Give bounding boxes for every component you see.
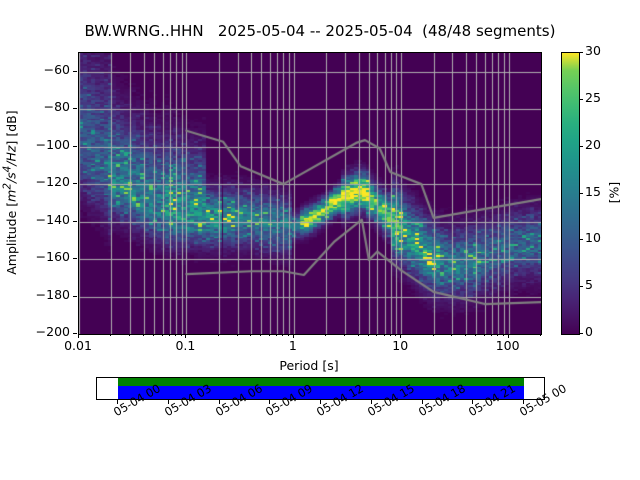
colorbar-tick-label: 10 <box>585 230 601 245</box>
colorbar-tick-mark <box>579 52 583 53</box>
y-axis-tick-label: −160 <box>8 249 70 264</box>
x-axis-minor-tick-mark <box>451 334 452 336</box>
x-axis-minor-tick-mark <box>358 334 359 336</box>
x-axis-minor-tick-mark <box>503 334 504 336</box>
colorbar-tick-mark <box>579 239 583 240</box>
colorbar-label: [%] <box>604 52 624 333</box>
x-axis-tick-label: 100 <box>478 338 538 353</box>
x-axis-minor-tick-mark <box>344 334 345 336</box>
colorbar-tick-label: 5 <box>585 277 593 292</box>
x-axis-label: Period [s] <box>78 358 540 373</box>
y-axis-tick-label: −60 <box>8 62 70 77</box>
x-axis-minor-tick-mark <box>143 334 144 336</box>
x-axis-minor-tick-mark <box>376 334 377 336</box>
x-axis-minor-tick-mark <box>162 334 163 336</box>
x-axis-tick-label: 0.01 <box>48 338 108 353</box>
x-axis-minor-tick-mark <box>237 334 238 336</box>
x-axis-minor-tick-mark <box>169 334 170 336</box>
y-axis-tick-label: −80 <box>8 99 70 114</box>
x-axis-minor-tick-mark <box>497 334 498 336</box>
y-axis-tick-label: −200 <box>8 324 70 339</box>
y-axis-tick-label: −100 <box>8 137 70 152</box>
x-axis-minor-tick-mark <box>491 334 492 336</box>
ppsd-plot-axes[interactable] <box>78 52 542 335</box>
y-axis-tick-mark <box>73 108 77 109</box>
colorbar-tick-label: 20 <box>585 137 601 152</box>
colorbar-tick-mark <box>579 99 583 100</box>
colorbar-tick-label: 30 <box>585 43 601 58</box>
y-axis-tick-mark <box>73 71 77 72</box>
x-axis-minor-tick-mark <box>368 334 369 336</box>
colorbar-tick-mark <box>579 333 583 334</box>
x-axis-minor-tick-mark <box>153 334 154 336</box>
y-axis-tick-mark <box>73 258 77 259</box>
colorbar-tick-mark <box>579 193 583 194</box>
x-axis-minor-tick-mark <box>325 334 326 336</box>
x-axis-minor-tick-mark <box>475 334 476 336</box>
colorbar-label-text: [%] <box>607 182 622 204</box>
x-axis-minor-tick-mark <box>175 334 176 336</box>
x-axis-tick-label: 10 <box>370 338 430 353</box>
colorbar <box>561 52 580 335</box>
y-axis-tick-label: −180 <box>8 287 70 302</box>
x-axis-tick-label: 1 <box>263 338 323 353</box>
x-axis-minor-tick-mark <box>282 334 283 336</box>
y-axis-tick-label: −140 <box>8 212 70 227</box>
colorbar-tick-mark <box>579 146 583 147</box>
x-axis-minor-tick-mark <box>395 334 396 336</box>
x-axis-minor-tick-mark <box>260 334 261 336</box>
colorbar-tick-label: 15 <box>585 184 601 199</box>
y-axis-tick-mark <box>73 296 77 297</box>
x-axis-minor-tick-mark <box>250 334 251 336</box>
y-axis-tick-mark <box>73 183 77 184</box>
y-axis-tick-mark <box>73 333 77 334</box>
x-axis-minor-tick-mark <box>465 334 466 336</box>
page-title: BW.WRNG..HHN 2025-05-04 -- 2025-05-04 (4… <box>0 22 640 40</box>
x-axis-minor-tick-mark <box>218 334 219 336</box>
x-axis-minor-tick-mark <box>384 334 385 336</box>
colorbar-tick-mark <box>579 286 583 287</box>
x-axis-minor-tick-mark <box>129 334 130 336</box>
y-axis-tick-mark <box>73 146 77 147</box>
x-axis-minor-tick-mark <box>276 334 277 336</box>
y-axis-tick-label: −120 <box>8 174 70 189</box>
x-axis-minor-tick-mark <box>433 334 434 336</box>
colorbar-tick-label: 25 <box>585 90 601 105</box>
ppsd-figure: BW.WRNG..HHN 2025-05-04 -- 2025-05-04 (4… <box>0 0 640 480</box>
y-axis-tick-mark <box>73 221 77 222</box>
x-axis-minor-tick-mark <box>288 334 289 336</box>
data-coverage-timeline[interactable] <box>96 377 545 400</box>
x-axis-minor-tick-mark <box>181 334 182 336</box>
peterson-noise-model-lines <box>79 53 541 334</box>
x-axis-minor-tick-mark <box>269 334 270 336</box>
colorbar-tick-label: 0 <box>585 324 593 339</box>
x-axis-minor-tick-mark <box>110 334 111 336</box>
x-axis-tick-label: 0.1 <box>155 338 215 353</box>
x-axis-minor-tick-mark <box>540 334 541 336</box>
x-axis-minor-tick-mark <box>390 334 391 336</box>
x-axis-minor-tick-mark <box>484 334 485 336</box>
